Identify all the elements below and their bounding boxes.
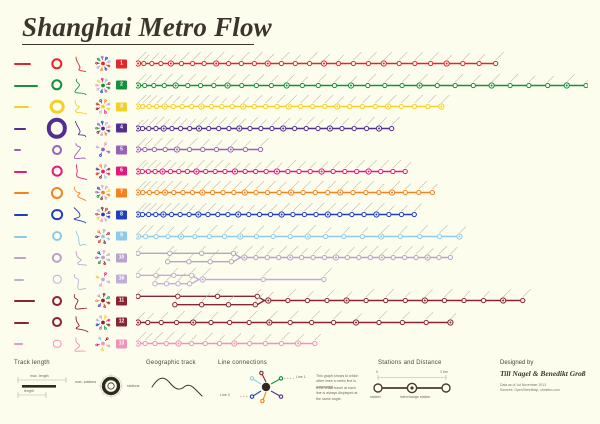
line-connections-indicator <box>94 289 112 312</box>
legend-stations-distance: Stations and Distance 0 1 km station int… <box>364 360 482 366</box>
interchange-indicator <box>46 74 68 97</box>
line-number-badge[interactable]: 16 <box>116 268 130 291</box>
metro-line-row[interactable]: 5 <box>0 138 600 161</box>
interchange-indicator <box>46 311 68 334</box>
metro-line-row[interactable]: 13 <box>0 332 600 355</box>
legend-max-length-label: max. length <box>30 374 49 378</box>
track-length-indicator <box>14 225 40 248</box>
line-track[interactable] <box>136 332 600 355</box>
line-track[interactable] <box>136 74 600 97</box>
track-length-indicator <box>14 74 40 97</box>
line-connections-indicator <box>94 95 112 118</box>
line-number-label: 12 <box>116 318 127 327</box>
metro-line-rows: 1234567891016111213 <box>0 52 600 354</box>
line-connections-indicator <box>94 52 112 75</box>
line-number-label: 4 <box>116 124 127 133</box>
line-track[interactable] <box>136 203 600 226</box>
line-number-badge[interactable]: 2 <box>116 74 130 97</box>
track-length-indicator <box>14 138 40 161</box>
line-track[interactable] <box>136 289 600 312</box>
track-length-indicator <box>14 311 40 334</box>
interchange-indicator <box>46 203 68 226</box>
geographic-track-shape <box>70 52 90 75</box>
line-connections-indicator <box>94 332 112 355</box>
legend-scale-end: 1 km <box>440 370 448 374</box>
track-length-indicator <box>14 95 40 118</box>
geographic-track-shape <box>70 181 90 204</box>
line-number-label: 5 <box>116 145 127 154</box>
legend-stations-label: stations <box>127 384 139 388</box>
line-number-badge[interactable]: 7 <box>116 181 130 204</box>
legend-connections: Line connections <box>218 360 360 366</box>
line-number-badge[interactable]: 11 <box>116 289 130 312</box>
legend-connections-heading: Line connections <box>218 360 360 366</box>
legend-connections-note-2: A life chalk travel at each line is alwa… <box>316 386 360 402</box>
interchange-indicator <box>46 289 68 312</box>
line-connections-indicator <box>94 311 112 334</box>
legend-track-length: Track length max. length length <box>14 360 74 366</box>
line-number-badge[interactable]: 8 <box>116 203 130 226</box>
geographic-track-shape <box>70 203 90 226</box>
track-length-indicator <box>14 268 40 291</box>
line-number-label: 7 <box>116 188 127 197</box>
interchange-indicator <box>46 181 68 204</box>
line-number-badge[interactable]: 3 <box>116 95 130 118</box>
metro-line-row[interactable]: 12 <box>0 311 600 334</box>
geographic-track-shape <box>70 268 90 291</box>
legend-geographic: Geographic track <box>146 360 208 366</box>
metro-line-row[interactable]: 9 <box>0 225 600 248</box>
geographic-track-shape <box>70 289 90 312</box>
line-number-label: 1 <box>116 59 127 68</box>
line-number-badge[interactable]: 10 <box>116 246 130 269</box>
track-length-indicator <box>14 246 40 269</box>
title-divider <box>22 44 254 45</box>
metro-line-row[interactable]: 3 <box>0 95 600 118</box>
legend-track-length-heading: Track length <box>14 360 74 366</box>
line-connections-indicator <box>94 74 112 97</box>
interchange-indicator <box>46 246 68 269</box>
geographic-track-shape <box>70 160 90 183</box>
legend-length-label: length <box>24 389 34 393</box>
credits-source-2: Sources: OpenStreetMap, shmetro.com <box>500 388 596 393</box>
line-track[interactable] <box>136 181 600 204</box>
line-number-label: 9 <box>116 232 127 241</box>
line-number-label: 2 <box>116 81 127 90</box>
page-title: Shanghai Metro Flow <box>22 12 272 43</box>
legend-station-label: station <box>370 395 381 399</box>
metro-line-row[interactable]: 8 <box>0 203 600 226</box>
line-track[interactable] <box>136 52 600 75</box>
line-connections-indicator <box>94 138 112 161</box>
line-track[interactable] <box>136 225 600 248</box>
line-number-badge[interactable]: 9 <box>116 225 130 248</box>
metro-line-row[interactable]: 11 <box>0 289 600 312</box>
line-number-label: 16 <box>116 275 127 284</box>
legend-stations-heading: Stations and Distance <box>378 360 482 366</box>
interchange-indicator <box>46 95 68 118</box>
geographic-track-shape <box>70 95 90 118</box>
line-number-label: 13 <box>116 339 127 348</box>
metro-line-row[interactable]: 4 <box>0 117 600 140</box>
line-number-badge[interactable]: 12 <box>116 311 130 334</box>
line-track[interactable] <box>136 246 600 269</box>
track-length-indicator <box>14 181 40 204</box>
metro-line-row[interactable]: 7 <box>0 181 600 204</box>
track-length-indicator <box>14 52 40 75</box>
line-number-label: 8 <box>116 210 127 219</box>
track-length-indicator <box>14 332 40 355</box>
line-number-badge[interactable]: 13 <box>116 332 130 355</box>
line-track[interactable] <box>136 311 600 334</box>
line-track[interactable] <box>136 268 600 291</box>
line-number-badge[interactable]: 5 <box>116 138 130 161</box>
line-connections-indicator <box>94 225 112 248</box>
credits-heading: Designed by <box>500 360 596 366</box>
credits-authors: Till Nagel & Benedikt Groß <box>500 369 596 378</box>
geographic-track-shape <box>70 117 90 140</box>
metro-line-row[interactable]: 16 <box>0 268 600 291</box>
line-number-label: 6 <box>116 167 127 176</box>
line-number-badge[interactable]: 6 <box>116 160 130 183</box>
geographic-track-shape <box>70 225 90 248</box>
geographic-track-diagram <box>150 374 206 400</box>
legend-line-label-a: Line 1 <box>296 375 306 379</box>
line-track[interactable] <box>136 95 600 118</box>
track-length-indicator <box>14 203 40 226</box>
line-track[interactable] <box>136 138 600 161</box>
legend-geographic-heading: Geographic track <box>146 360 208 366</box>
interchange-indicator <box>46 332 68 355</box>
metro-line-row[interactable]: 2 <box>0 74 600 97</box>
line-number-label: 3 <box>116 102 127 111</box>
legend: Track length max. length length <box>0 360 600 424</box>
poster: Shanghai Metro Flow 1234567891016111213 … <box>0 0 600 424</box>
interchange-indicator <box>46 160 68 183</box>
metro-line-row[interactable]: 1 <box>0 52 600 75</box>
track-length-indicator <box>14 160 40 183</box>
line-connections-indicator <box>94 181 112 204</box>
track-length-indicator <box>14 289 40 312</box>
line-connections-indicator <box>94 117 112 140</box>
interchange-indicator <box>46 225 68 248</box>
legend-line-label-b: Line 4 <box>220 393 230 397</box>
line-connections-indicator <box>94 246 112 269</box>
line-number-label: 10 <box>116 253 127 262</box>
line-track[interactable] <box>136 117 600 140</box>
geographic-track-shape <box>70 74 90 97</box>
line-track[interactable] <box>136 160 600 183</box>
geographic-track-shape <box>70 332 90 355</box>
line-connections-indicator <box>94 268 112 291</box>
credits: Designed by Till Nagel & Benedikt Groß D… <box>500 360 596 393</box>
geographic-track-shape <box>70 246 90 269</box>
interchange-indicator <box>46 268 68 291</box>
metro-line-row[interactable]: 10 <box>0 246 600 269</box>
legend-scale-start: 0 <box>376 370 378 374</box>
interchange-indicator <box>46 117 68 140</box>
line-number-badge[interactable]: 1 <box>116 52 130 75</box>
legend-interchange-station-label: interchange station <box>400 395 430 399</box>
line-connections-indicator <box>94 160 112 183</box>
line-connections-indicator <box>94 203 112 226</box>
geographic-track-shape <box>70 138 90 161</box>
legend-max-stations-label: max. stations <box>75 380 96 384</box>
interchange-indicator <box>46 138 68 161</box>
track-length-indicator <box>14 117 40 140</box>
interchange-indicator <box>46 52 68 75</box>
line-number-badge[interactable]: 4 <box>116 117 130 140</box>
line-number-label: 11 <box>116 296 127 305</box>
metro-line-row[interactable]: 6 <box>0 160 600 183</box>
geographic-track-shape <box>70 311 90 334</box>
